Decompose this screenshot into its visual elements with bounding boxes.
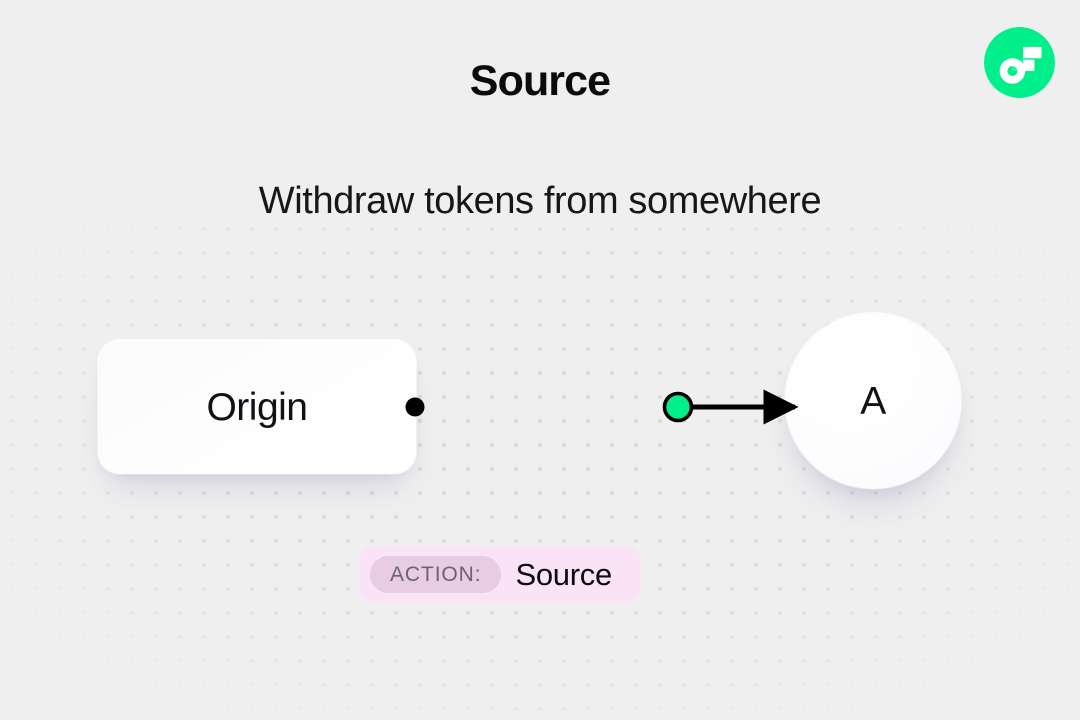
screen-root: Source Withdraw tokens from somewhere Or…: [0, 0, 1080, 720]
action-badge: ACTION: Source: [360, 546, 640, 602]
action-badge-value: Source: [515, 559, 615, 590]
diagram-node-origin[interactable]: Origin: [98, 340, 416, 474]
diagram-node-origin-label: Origin: [206, 388, 307, 427]
green-node-dot[interactable]: [665, 394, 692, 421]
action-badge-key: ACTION:: [370, 556, 501, 593]
flow-diagram: Origin A: [0, 0, 1080, 720]
diagram-node-a[interactable]: A: [785, 313, 961, 489]
diagram-node-a-label: A: [860, 382, 886, 421]
